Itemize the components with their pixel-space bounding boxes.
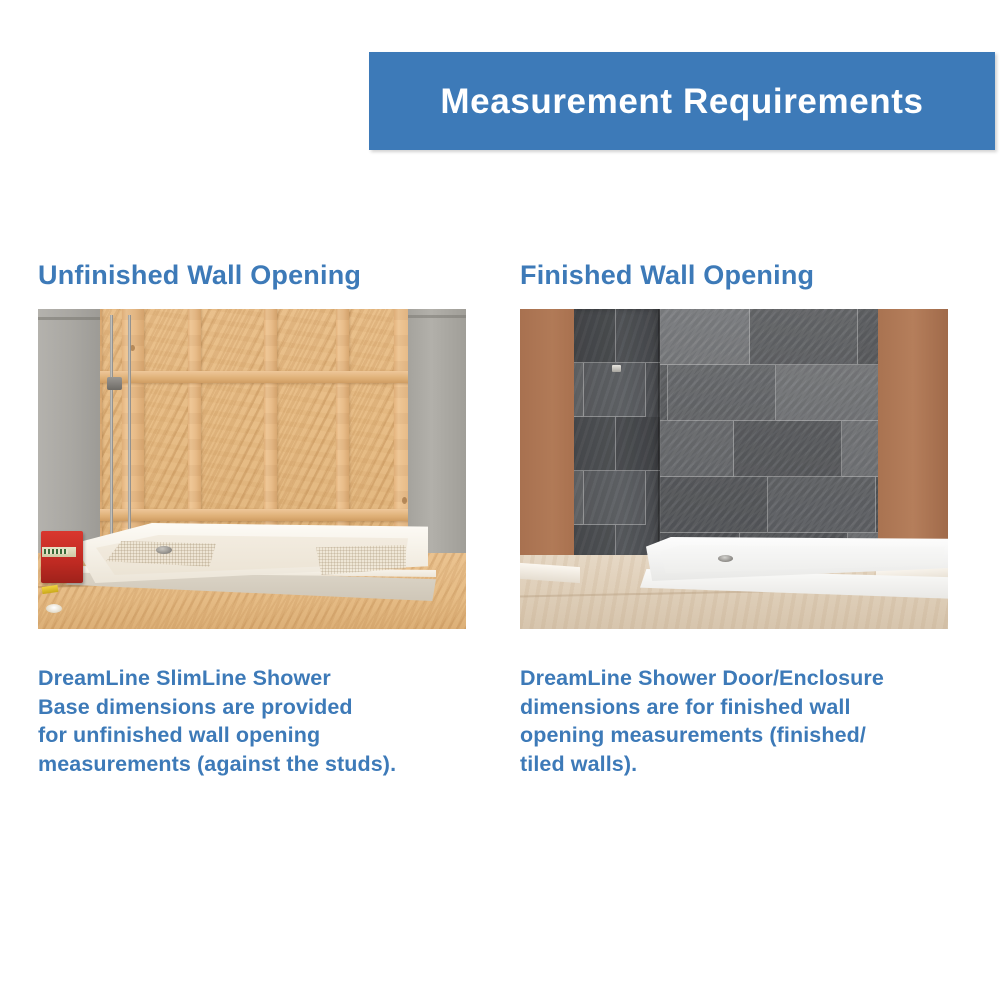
toolbox-label [42,547,76,557]
tiled-side-wall [574,309,660,559]
panel-caption-finished: DreamLine Shower Door/Enclosure dimensio… [520,664,950,778]
panel-finished-wall: Finished Wall Opening [520,262,950,778]
photo-finished-wall-opening [520,309,948,629]
panel-heading-finished: Finished Wall Opening [520,262,950,289]
red-toolbox [41,531,83,583]
photo-unfinished-wall-opening [38,309,466,629]
tile-corner-edge [658,309,661,559]
panel-caption-unfinished: DreamLine SlimLine Shower Base dimension… [38,664,468,778]
panel-unfinished-wall: Unfinished Wall Opening [38,262,468,778]
header-banner: Measurement Requirements [369,52,995,150]
plumbing-pipe [110,315,113,541]
tape-roll [46,604,62,613]
wood-stud [336,309,349,561]
painted-wall-left [520,309,574,573]
drain-icon [156,546,172,554]
wood-blocking [76,371,414,383]
page-title: Measurement Requirements [440,84,923,119]
wall-fixture [612,365,621,372]
drain-icon [718,555,733,562]
panel-heading-unfinished: Unfinished Wall Opening [38,262,468,289]
wood-blocking [76,509,414,521]
pipe-fitting [107,377,122,390]
plumbing-pipe [128,315,131,541]
